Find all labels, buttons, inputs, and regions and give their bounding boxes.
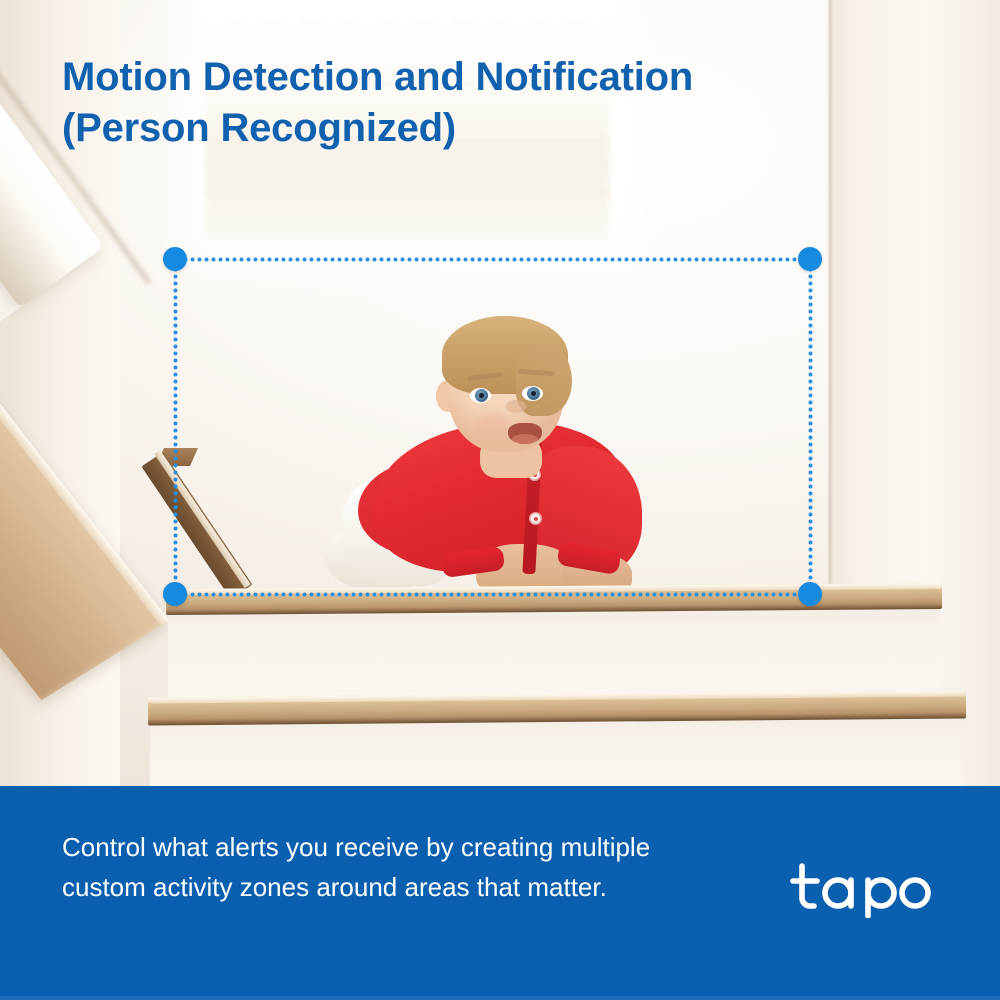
page-title: Motion Detection and Notification (Perso… <box>62 52 862 154</box>
tapo-logo: tapo <box>788 860 948 918</box>
zone-handle-top-left[interactable] <box>163 247 187 271</box>
person-baby <box>330 318 650 596</box>
zone-edge-right[interactable] <box>808 259 813 595</box>
stair-skirting-highlight <box>154 450 250 588</box>
baby-mouth <box>508 423 542 444</box>
baby-button-bottom <box>529 512 542 525</box>
zone-handle-bottom-right[interactable] <box>798 582 822 606</box>
zone-edge-left[interactable] <box>173 259 178 595</box>
zone-edge-bottom[interactable] <box>175 592 811 597</box>
baby-eye-left <box>470 388 491 403</box>
stair-skirting <box>141 452 252 599</box>
screenshot-root: Motion Detection and Notification (Perso… <box>0 0 1000 1000</box>
baby-eye-right <box>522 386 543 401</box>
footer-description: Control what alerts you receive by creat… <box>62 828 734 907</box>
zone-handle-bottom-left[interactable] <box>163 582 187 606</box>
baby-cheek <box>476 414 510 438</box>
baby-nose <box>506 400 526 413</box>
zone-handle-top-right[interactable] <box>798 247 822 271</box>
zone-edge-top[interactable] <box>175 257 811 262</box>
window-valance <box>200 0 618 12</box>
stair-riser-1 <box>168 600 940 704</box>
